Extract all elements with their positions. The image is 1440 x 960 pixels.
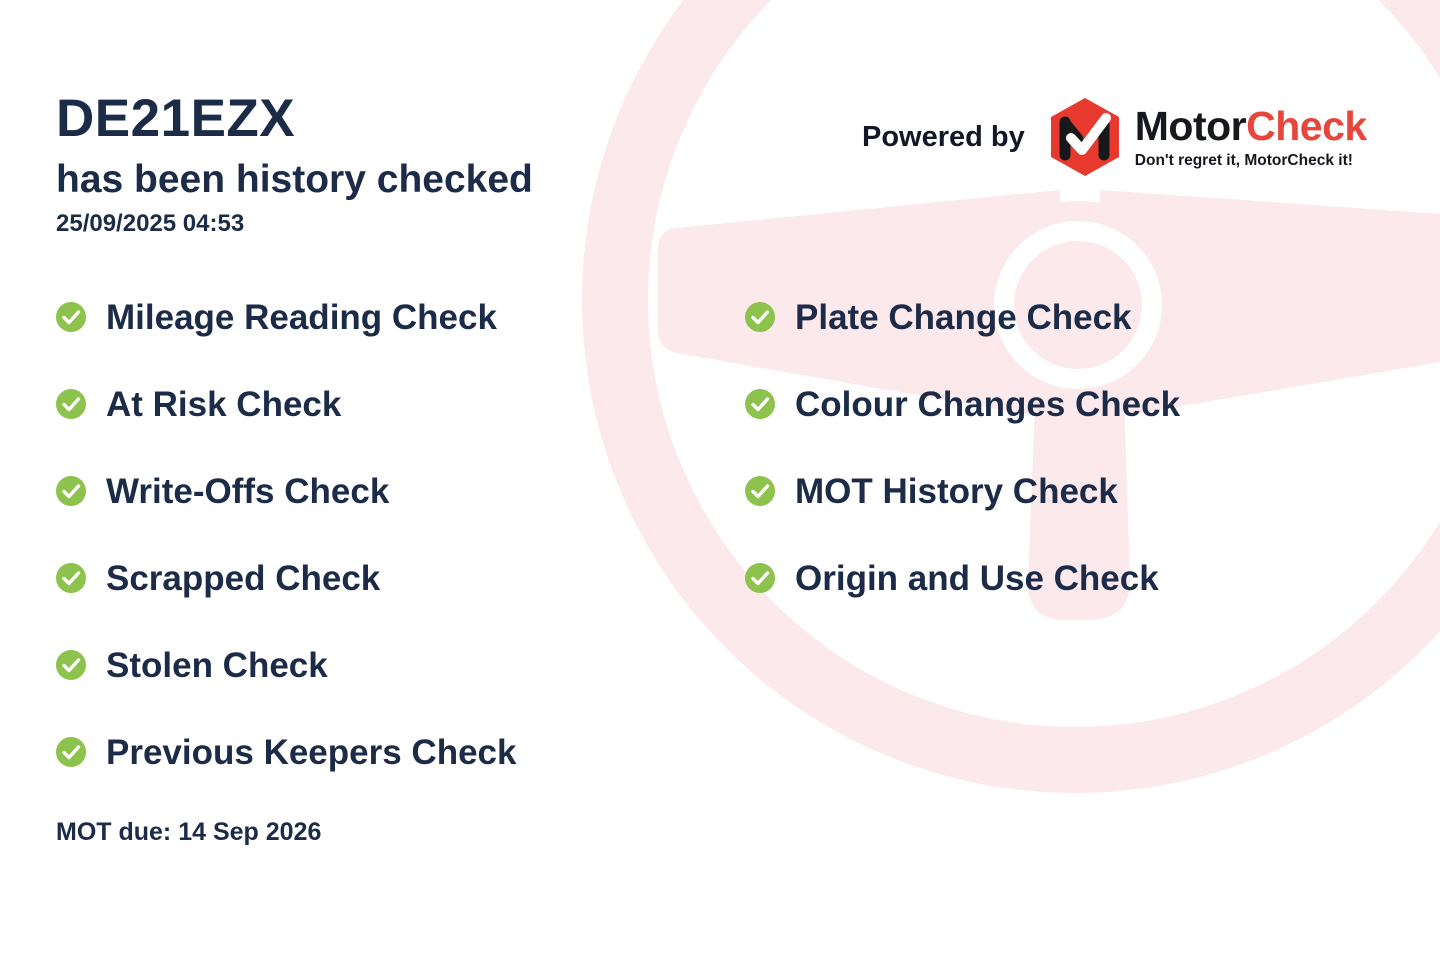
green-check-circle-icon (56, 737, 86, 767)
green-check-circle-icon (56, 650, 86, 680)
wordmark-check: Check (1246, 103, 1367, 149)
check-item: At Risk Check (56, 382, 516, 426)
check-item-label: MOT History Check (795, 474, 1118, 509)
check-item: Stolen Check (56, 643, 516, 687)
check-item-label: Previous Keepers Check (106, 735, 516, 770)
motorcheck-hexagon-m-tick-icon (1047, 97, 1123, 177)
powered-by-block: Powered by MotorCheck Don't regret it, M… (862, 97, 1367, 177)
check-item: Previous Keepers Check (56, 730, 516, 774)
header-block: DE21EZX has been history checked 25/09/2… (56, 92, 756, 236)
check-item-label: Mileage Reading Check (106, 300, 497, 335)
check-item: MOT History Check (745, 469, 1180, 513)
registration-plate-title: DE21EZX (56, 92, 756, 145)
green-check-circle-icon (56, 389, 86, 419)
motorcheck-logo[interactable]: MotorCheck Don't regret it, MotorCheck i… (1047, 97, 1367, 177)
brand-tagline: Don't regret it, MotorCheck it! (1135, 153, 1367, 169)
check-item: Write-Offs Check (56, 469, 516, 513)
green-check-circle-icon (56, 563, 86, 593)
green-check-circle-icon (745, 476, 775, 506)
history-check-card: DE21EZX has been history checked 25/09/2… (0, 0, 1440, 960)
mot-due-date: MOT due: 14 Sep 2026 (56, 820, 321, 845)
check-item: Mileage Reading Check (56, 295, 516, 339)
check-item-label: Origin and Use Check (795, 561, 1159, 596)
motorcheck-wordmark: MotorCheck (1135, 106, 1367, 147)
check-item: Colour Changes Check (745, 382, 1180, 426)
check-item: Scrapped Check (56, 556, 516, 600)
check-item-label: Stolen Check (106, 648, 328, 683)
check-item-label: Scrapped Check (106, 561, 380, 596)
check-item: Plate Change Check (745, 295, 1180, 339)
green-check-circle-icon (56, 476, 86, 506)
wordmark-motor: Motor (1135, 103, 1246, 149)
motorcheck-wordmark-block: MotorCheck Don't regret it, MotorCheck i… (1135, 106, 1367, 169)
checks-column-right: Plate Change Check Colour Changes Check … (745, 295, 1180, 643)
green-check-circle-icon (56, 302, 86, 332)
check-item-label: Colour Changes Check (795, 387, 1180, 422)
history-checked-status-line: has been history checked (56, 160, 756, 199)
powered-by-label: Powered by (862, 123, 1025, 152)
green-check-circle-icon (745, 389, 775, 419)
green-check-circle-icon (745, 563, 775, 593)
check-item-label: Write-Offs Check (106, 474, 389, 509)
check-item-label: Plate Change Check (795, 300, 1132, 335)
check-item-label: At Risk Check (106, 387, 341, 422)
green-check-circle-icon (745, 302, 775, 332)
check-item: Origin and Use Check (745, 556, 1180, 600)
check-timestamp: 25/09/2025 04:53 (56, 212, 756, 236)
checks-column-left: Mileage Reading Check At Risk Check Writ… (56, 295, 516, 817)
